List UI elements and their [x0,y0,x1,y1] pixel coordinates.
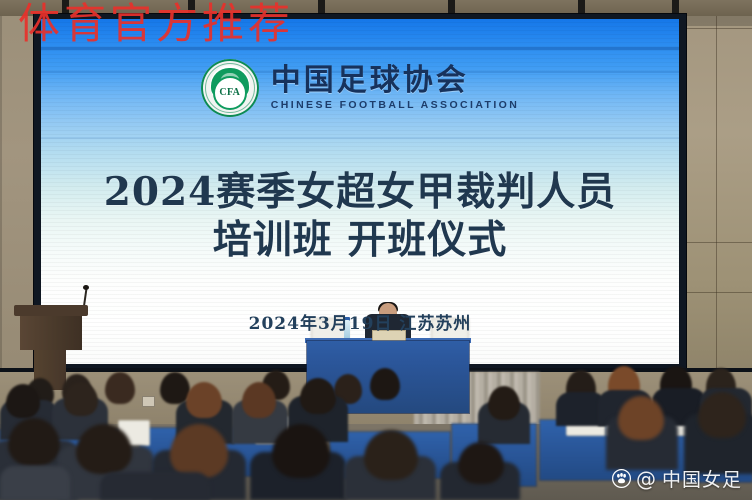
audience-torso [100,472,210,500]
audience-person [618,396,664,440]
audience-person [105,372,135,404]
wall-seam [686,242,752,243]
audience-person [170,424,228,478]
wall-seam [716,0,717,380]
org-name-cn: 中国足球协会 [271,66,519,96]
audience-person [6,384,40,418]
audience-person [64,382,98,416]
wall-outlet [142,396,155,407]
emblem-football-icon: CFA [213,76,247,110]
org-name-en: CHINESE FOOTBALL ASSOCIATION [271,100,519,111]
audience-person [76,424,132,474]
watermark-at-symbol: @ [636,467,657,491]
wall-seam [686,0,687,380]
cfa-branding: CFA 中国足球协会 CHINESE FOOTBALL ASSOCIATION [41,59,679,117]
screen-scanline [41,137,679,139]
audience-person [698,392,746,438]
audience-person [242,382,276,418]
event-date-location: 2024年3月19日 江苏苏州 [41,309,679,334]
wall-seam [686,28,752,29]
watermark-account-name: 中国女足 [662,465,742,492]
audience-person [272,424,330,478]
baidu-paw-icon [612,469,631,488]
led-screen-frame: CFA 中国足球协会 CHINESE FOOTBALL ASSOCIATION … [34,14,686,370]
event-title: 2024赛季女超女甲裁判人员 培训班 开班仪式 [41,169,679,264]
cfa-emblem-icon: CFA [201,59,259,117]
conference-photo: CFA 中国足球协会 CHINESE FOOTBALL ASSOCIATION … [0,0,752,500]
wall-right [686,0,752,380]
audience-person [364,430,418,480]
led-screen: CFA 中国足球协会 CHINESE FOOTBALL ASSOCIATION … [41,19,679,364]
audience-person [458,442,504,484]
event-title-line-2: 培训班 开班仪式 [41,217,679,265]
audience-person [488,386,520,420]
event-title-line-1: 2024赛季女超女甲裁判人员 [41,169,679,217]
audience-person [8,418,60,466]
audience-person [370,368,400,400]
wall-seam [686,292,752,293]
cfa-name-block: 中国足球协会 CHINESE FOOTBALL ASSOCIATION [271,66,519,111]
audience-person [300,378,336,414]
audience-torso [0,466,70,500]
microphone-icon [83,285,89,290]
watermark-bottom-right: @ 中国女足 [612,465,742,492]
watermark-top-left: 体育官方推荐 [18,2,294,46]
audience-person [186,382,222,418]
cfa-abbreviation: CFA [219,88,240,98]
